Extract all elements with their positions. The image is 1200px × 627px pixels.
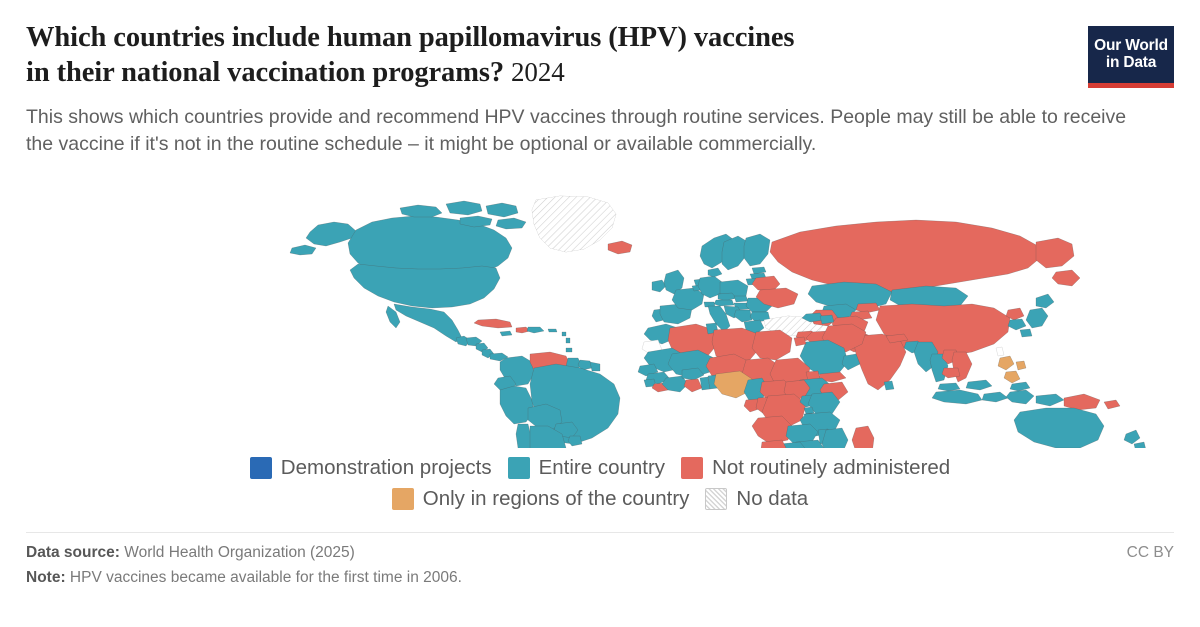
country-japan — [1026, 308, 1048, 328]
legend-item-demonstration-projects[interactable]: Demonstration projects — [250, 456, 492, 479]
country-russia — [1036, 238, 1074, 268]
legend-item-only-in-regions[interactable]: Only in regions of the country — [392, 487, 690, 510]
legend-row-1: Demonstration projects Entire country No… — [0, 452, 1200, 483]
country-new-zealand — [1134, 442, 1146, 448]
legend-item-entire-country[interactable]: Entire country — [508, 456, 665, 479]
country-canada — [446, 201, 482, 215]
country-indonesia — [932, 390, 982, 404]
country-puerto-rico — [548, 329, 557, 332]
country-dominican-republic — [527, 327, 544, 333]
legend-label-demonstration-projects: Demonstration projects — [281, 456, 492, 479]
legend-swatch-no-data — [705, 488, 727, 510]
chart-subtitle: This shows which countries provide and r… — [26, 104, 1136, 157]
country-indonesia — [1036, 394, 1064, 406]
legend-row-2: Only in regions of the country No data — [0, 483, 1200, 514]
country-philippines — [1016, 361, 1026, 370]
chart-root: Which countries include human papillomav… — [0, 0, 1200, 627]
world-map-svg[interactable] — [0, 186, 1200, 448]
owid-logo[interactable]: Our World in Data — [1088, 26, 1174, 88]
data-source-value[interactable]: World Health Organization (2025) — [124, 544, 355, 561]
country-french-guiana — [590, 362, 600, 371]
data-source-line: Data source: World Health Organization (… — [26, 540, 1174, 565]
legend-label-no-data: No data — [736, 487, 808, 510]
note-value: HPV vaccines became available for the fi… — [70, 569, 462, 586]
country-malaysia — [966, 380, 992, 390]
country-australia — [1014, 408, 1104, 448]
country-angola — [752, 416, 792, 444]
footer-divider — [26, 532, 1174, 533]
legend-label-only-in-regions: Only in regions of the country — [423, 487, 690, 510]
country-sri-lanka — [884, 381, 894, 390]
country-uruguay — [568, 436, 582, 446]
country-belarus — [752, 276, 780, 290]
country-jordan-israel — [794, 337, 806, 346]
country-united-states — [350, 264, 500, 308]
data-source-label: Data source: — [26, 544, 120, 561]
logo-line-1: Our World — [1094, 37, 1168, 54]
legend-label-entire-country: Entire country — [539, 456, 665, 479]
country-malaysia — [938, 383, 960, 391]
country-indonesia — [982, 392, 1008, 402]
country-egypt — [752, 330, 792, 360]
country-iceland — [608, 241, 632, 254]
country-vietnam — [952, 352, 972, 382]
country-indonesia — [1010, 382, 1030, 391]
country-lesser-antilles — [566, 338, 570, 343]
logo-line-2: in Data — [1106, 54, 1156, 71]
country-jamaica — [500, 331, 512, 336]
title-year: 2024 — [511, 57, 565, 87]
country-indonesia — [1006, 390, 1034, 404]
country-slovakia — [734, 296, 748, 302]
country-canada — [400, 205, 442, 217]
legend-swatch-not-routinely-administered — [681, 457, 703, 479]
country-new-zealand — [1124, 430, 1140, 444]
header: Which countries include human papillomav… — [26, 20, 1174, 100]
country-japan — [1020, 329, 1032, 337]
country-serbia-bosnia — [734, 310, 752, 322]
country-ireland — [652, 280, 666, 292]
note-line: Note: HPV vaccines became available for … — [26, 565, 1174, 590]
country-south-korea — [1008, 319, 1026, 330]
country-denmark — [708, 268, 722, 277]
country-namibia — [760, 440, 788, 448]
country-taiwan — [996, 347, 1004, 356]
country-ghana — [684, 379, 702, 392]
legend-label-not-routinely-administered: Not routinely administered — [712, 456, 950, 479]
country-russia — [1052, 270, 1080, 286]
country-papua-new-guinea — [1104, 400, 1120, 409]
country-philippines — [998, 356, 1014, 370]
legend-item-not-routinely-administered[interactable]: Not routinely administered — [681, 456, 950, 479]
country-japan — [1036, 294, 1054, 308]
license-label[interactable]: CC BY — [1127, 540, 1174, 565]
legend-item-no-data[interactable]: No data — [705, 487, 808, 510]
footer: Data source: World Health Organization (… — [26, 540, 1174, 590]
country-cuba — [474, 319, 512, 328]
country-papua-new-guinea — [1064, 394, 1100, 410]
country-madagascar — [852, 426, 874, 448]
country-mexico — [394, 304, 462, 342]
note-label: Note: — [26, 569, 66, 586]
country-kazakhstan — [808, 282, 892, 310]
country-united-states — [290, 245, 316, 255]
country-mozambique — [822, 428, 848, 448]
country-finland — [744, 234, 770, 266]
country-russia — [770, 220, 1040, 292]
world-map[interactable] — [0, 186, 1200, 448]
legend-swatch-only-in-regions — [392, 488, 414, 510]
page-title: Which countries include human papillomav… — [26, 20, 986, 90]
legend-swatch-demonstration-projects — [250, 457, 272, 479]
greenland-hatch — [532, 196, 616, 252]
country-lesser-antilles — [562, 332, 566, 336]
country-trinidad — [566, 348, 572, 352]
title-text: Which countries include human papillomav… — [26, 22, 794, 88]
country-canada — [486, 203, 518, 217]
country-philippines — [1004, 371, 1020, 383]
country-canada — [496, 218, 526, 229]
legend: Demonstration projects Entire country No… — [0, 452, 1200, 514]
country-austria — [714, 300, 734, 306]
legend-swatch-entire-country — [508, 457, 530, 479]
